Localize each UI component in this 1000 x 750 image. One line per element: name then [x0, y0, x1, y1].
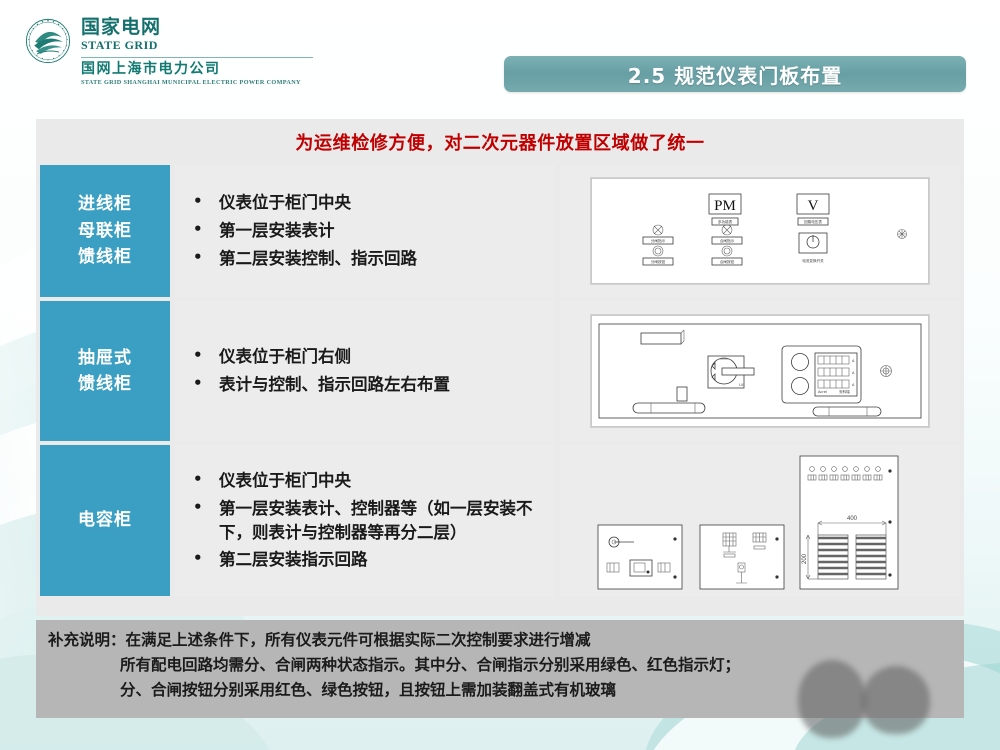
row-category-incoming: 进线柜 母联柜 馈线柜	[40, 165, 170, 297]
category-line: 电容柜	[78, 507, 132, 533]
bullet-text: 第一层安装表计、控制器等（如一层安装不下，则表计与控制器等再分二层）	[219, 497, 544, 545]
figure-drawer-feeder-cabinet-door-layout: I-II	[560, 301, 960, 441]
category-line: 进线柜	[78, 191, 132, 217]
bullet-item: • 仪表位于柜门中央	[193, 191, 544, 215]
table-row: 抽屉式 馈线柜 • 仪表位于柜门右侧 • 表计与控制、指示回路左右布置	[36, 301, 964, 441]
bullet-item: • 第二层安装控制、指示回路	[193, 247, 544, 271]
bullet-text: 第二层安装控制、指示回路	[219, 247, 544, 271]
bullet-text: 仪表位于柜门右侧	[219, 345, 544, 369]
dimension-200: 200	[802, 553, 808, 564]
brand-sub-en: STATE GRID SHANGHAI MUNICIPAL ELECTRIC P…	[81, 79, 313, 86]
bullet-dot: •	[193, 548, 219, 570]
row-category-capacitor: 电容柜	[40, 445, 170, 596]
svg-text:PM: PM	[714, 198, 736, 214]
svg-text:V: V	[808, 198, 819, 214]
bullet-dot: •	[193, 219, 219, 241]
svg-text:回路电压表: 回路电压表	[804, 219, 822, 224]
dimension-400: 400	[847, 516, 858, 522]
figure-incoming-cabinet-door-layout: PM 多功能表 V 回路电压表 分闸	[560, 165, 960, 297]
bullet-text: 第二层安装指示回路	[219, 548, 544, 572]
bullet-item: • 第二层安装指示回路	[193, 548, 544, 572]
bullet-dot: •	[193, 469, 219, 491]
bullet-text: 仪表位于柜门中央	[219, 191, 544, 215]
brand-name-cn: 国家电网	[81, 18, 313, 38]
svg-text:多功能表: 多功能表	[718, 219, 733, 224]
bullet-text: 仪表位于柜门中央	[219, 469, 544, 493]
svg-text:合闸指示: 合闸指示	[720, 238, 735, 243]
slide-canvas: 国家电网 STATE GRID 国网上海市电力公司 STATE GRID SHA…	[0, 0, 1000, 750]
state-grid-emblem-icon	[25, 18, 71, 64]
page-title: 2.5 规范仪表门板布置	[504, 56, 966, 92]
bullet-item: • 第一层安装表计	[193, 219, 544, 243]
decorative-blob-1	[798, 660, 866, 738]
svg-text:Acrel: Acrel	[818, 390, 827, 394]
brand-logo: 国家电网 STATE GRID 国网上海市电力公司 STATE GRID SHA…	[25, 18, 313, 86]
svg-text:电流变换开关: 电流变换开关	[802, 258, 824, 263]
category-line: 馈线柜	[78, 371, 132, 397]
table-row: 进线柜 母联柜 馈线柜 • 仪表位于柜门中央 • 第一层安装表计 •	[36, 165, 964, 297]
bullet-dot: •	[193, 373, 219, 395]
banner: 为运维检修方便，对二次元器件放置区域做了统一	[36, 119, 964, 165]
row-category-drawer: 抽屉式 馈线柜	[40, 301, 170, 441]
bullet-item: • 第一层安装表计、控制器等（如一层安装不下，则表计与控制器等再分二层）	[193, 497, 544, 545]
bullet-item: • 仪表位于柜门右侧	[193, 345, 544, 369]
brand-name-en: STATE GRID	[81, 38, 313, 52]
bullet-dot: •	[193, 345, 219, 367]
content-card: 为运维检修方便，对二次元器件放置区域做了统一 进线柜 母联柜 馈线柜 • 仪表位…	[36, 119, 964, 616]
row-description-capacitor: • 仪表位于柜门中央 • 第一层安装表计、控制器等（如一层安装不下，则表计与控制…	[175, 445, 554, 596]
bullet-text: 表计与控制、指示回路左右布置	[219, 373, 544, 397]
figure-capacitor-cabinet-door-layout: 400 200	[560, 445, 960, 596]
bullet-dot: •	[193, 247, 219, 269]
category-line: 馈线柜	[78, 244, 132, 270]
requirement-table: 进线柜 母联柜 馈线柜 • 仪表位于柜门中央 • 第一层安装表计 •	[36, 165, 964, 596]
svg-text:分闸按钮: 分闸按钮	[651, 259, 666, 264]
bullet-dot: •	[193, 191, 219, 213]
bullet-dot: •	[193, 497, 219, 519]
table-row: 电容柜 • 仪表位于柜门中央 • 第一层安装表计、控制器等（如一层安装不下，则表…	[36, 445, 964, 596]
brand-divider	[81, 57, 313, 58]
svg-text:分闸指示: 分闸指示	[651, 238, 666, 243]
category-line: 抽屉式	[78, 345, 132, 371]
row-description-drawer: • 仪表位于柜门右侧 • 表计与控制、指示回路左右布置	[175, 301, 554, 441]
svg-text:合闸按钮: 合闸按钮	[720, 259, 735, 264]
bullet-text: 第一层安装表计	[219, 219, 544, 243]
row-description-incoming: • 仪表位于柜门中央 • 第一层安装表计 • 第二层安装控制、指示回路	[175, 165, 554, 297]
brand-sub-cn: 国网上海市电力公司	[81, 62, 313, 77]
svg-text:安科瑞: 安科瑞	[839, 389, 850, 394]
banner-text: 为运维检修方便，对二次元器件放置区域做了统一	[295, 129, 704, 155]
note-line: 补充说明：在满足上述条件下，所有仪表元件可根据实际二次控制要求进行增减	[36, 628, 964, 653]
bullet-item: • 表计与控制、指示回路左右布置	[193, 373, 544, 397]
page-title-text: 2.5 规范仪表门板布置	[628, 60, 842, 89]
decorative-blob-2	[862, 666, 930, 734]
bullet-item: • 仪表位于柜门中央	[193, 469, 544, 493]
category-line: 母联柜	[78, 218, 132, 244]
svg-text:I-II: I-II	[739, 383, 743, 387]
